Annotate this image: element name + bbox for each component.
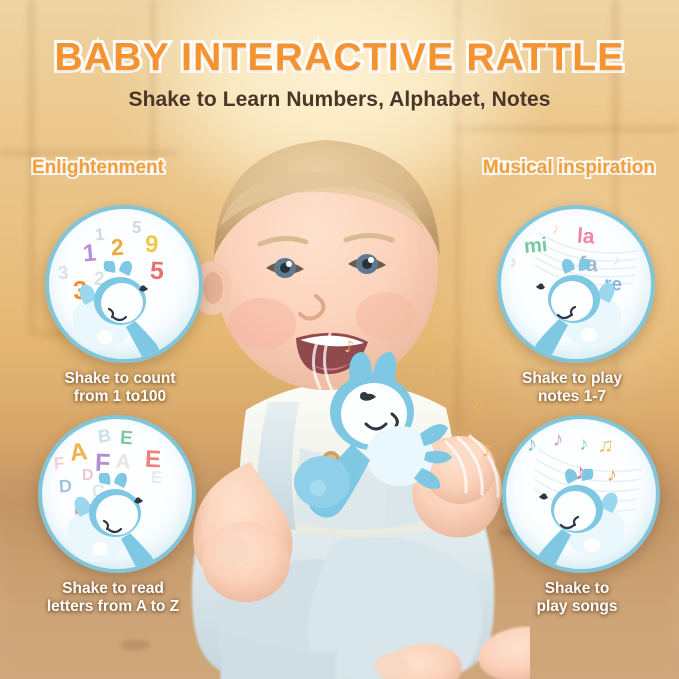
floating-glyph: ♪ xyxy=(552,221,560,235)
floating-glyph: B xyxy=(97,426,112,445)
feature-letters-caption: Shake to read letters from A to Z xyxy=(38,580,188,615)
floating-glyph: 1 xyxy=(94,226,105,244)
product-marketing-image: ♪ ♪ ♫ ♪ ♫ xyxy=(0,0,679,679)
feature-notes-caption: Shake to play notes 1-7 xyxy=(497,370,647,405)
feature-count-caption: Shake to count from 1 to100 xyxy=(45,370,195,405)
bunny-rattle-icon xyxy=(515,259,621,355)
feature-letters-circle: BEAFFAEDEDCC xyxy=(38,415,196,573)
feature-songs-caption: Shake to play songs xyxy=(502,580,652,615)
feature-notes: milafaredo♪♪♪♪ Shake to play xyxy=(497,205,647,405)
floating-glyph: 3 xyxy=(57,264,69,284)
floating-glyph: ♫ xyxy=(597,434,615,457)
svg-text:♪: ♪ xyxy=(482,441,492,460)
floating-glyph: 9 xyxy=(144,233,159,258)
floating-glyph: F xyxy=(54,455,65,473)
svg-text:♫: ♫ xyxy=(470,393,484,412)
feature-notes-circle: milafaredo♪♪♪♪ xyxy=(497,205,655,363)
held-bunny-rattle xyxy=(288,348,468,528)
section-heading-musical: Musical inspiration xyxy=(483,157,655,179)
floating-glyph: A xyxy=(69,440,89,466)
feature-count: 152913253 Shake to count from 1 to100 xyxy=(45,205,195,405)
feature-songs-circle: ♪♪♪♫♪♪♫ xyxy=(502,415,660,573)
floating-glyph: la xyxy=(576,225,595,247)
feature-letters: BEAFFAEDEDCC Shake to read letters from … xyxy=(38,415,188,615)
floating-glyph: E xyxy=(119,429,133,449)
floating-glyph: A xyxy=(115,451,131,472)
bunny-rattle-icon xyxy=(518,469,624,565)
floating-glyph: 5 xyxy=(131,219,142,237)
floating-glyph: ♪ xyxy=(552,429,564,451)
feature-songs: ♪♪♪♫♪♪♫ Shake to play xyxy=(502,415,652,615)
page-subtitle: Shake to Learn Numbers, Alphabet, Notes xyxy=(0,88,679,112)
bunny-rattle-icon xyxy=(68,473,174,569)
floating-glyph: ♪ xyxy=(578,435,589,455)
bunny-rattle-icon xyxy=(73,261,179,357)
section-heading-enlightenment: Enlightenment xyxy=(32,157,164,179)
feature-count-circle: 152913253 xyxy=(45,205,203,363)
floating-glyph: mi xyxy=(523,235,548,257)
floating-glyph: 2 xyxy=(110,236,124,260)
page-title: BABY INTERACTIVE RATTLE xyxy=(0,36,679,80)
